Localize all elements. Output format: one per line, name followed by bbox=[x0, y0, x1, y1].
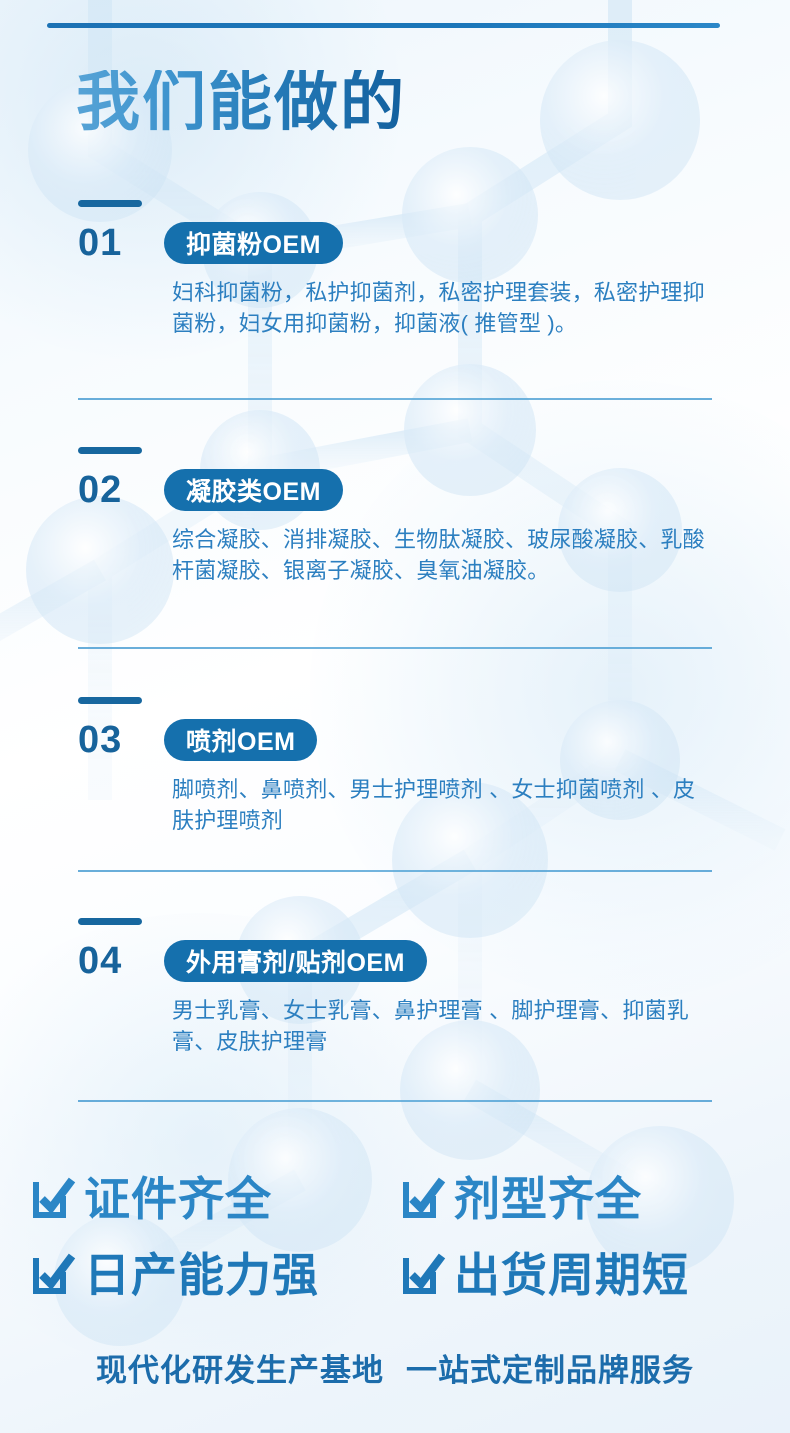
section-divider bbox=[78, 398, 712, 400]
feature-highlight-grid: 证件齐全 剂型齐全 日产能力强 出货周期短 bbox=[0, 1163, 790, 1311]
checkbox-checked-icon bbox=[30, 1253, 76, 1297]
feature-item-certificates: 证件齐全 bbox=[30, 1163, 390, 1235]
section-header: 03 喷剂OEM bbox=[78, 717, 712, 763]
capability-section-02: 02 凝胶类OEM 综合凝胶、消排凝胶、生物肽凝胶、玻尿酸凝胶、乳酸杆菌凝胶、银… bbox=[78, 447, 712, 586]
capability-section-03: 03 喷剂OEM 脚喷剂、鼻喷剂、男士护理喷剂 、女士抑菌喷剂 、皮肤护理喷剂 bbox=[78, 697, 712, 836]
section-pill-label[interactable]: 外用膏剂/贴剂OEM bbox=[164, 940, 427, 982]
header-rule bbox=[47, 23, 720, 28]
feature-label: 证件齐全 bbox=[84, 1176, 272, 1222]
section-dash-icon bbox=[78, 918, 142, 925]
section-header: 01 抑菌粉OEM bbox=[78, 220, 712, 266]
section-dash-icon bbox=[78, 200, 142, 207]
section-number: 02 bbox=[78, 471, 144, 509]
checkbox-checked-icon bbox=[400, 1253, 446, 1297]
tagline-left: 现代化研发生产基地 bbox=[96, 1353, 384, 1388]
section-number: 04 bbox=[78, 942, 144, 980]
section-number: 01 bbox=[78, 224, 144, 262]
tagline-right: 一站式定制品牌服务 bbox=[406, 1353, 694, 1388]
feature-label: 日产能力强 bbox=[84, 1252, 319, 1298]
section-description: 妇科抑菌粉，私护抑菌剂，私密护理套装，私密护理抑菌粉，妇女用抑菌粉，抑菌液( 推… bbox=[172, 277, 707, 339]
checkbox-checked-icon bbox=[30, 1177, 76, 1221]
section-pill-label[interactable]: 凝胶类OEM bbox=[164, 469, 343, 511]
promo-page: 我们能做的 01 抑菌粉OEM 妇科抑菌粉，私护抑菌剂，私密护理套装，私密护理抑… bbox=[0, 0, 790, 1433]
section-header: 02 凝胶类OEM bbox=[78, 467, 712, 513]
section-description: 男士乳膏、女士乳膏、鼻护理膏 、脚护理膏、抑菌乳膏、皮肤护理膏 bbox=[172, 995, 707, 1057]
feature-item-daily-capacity: 日产能力强 bbox=[30, 1239, 390, 1311]
footer-tagline: 现代化研发生产基地一站式定制品牌服务 bbox=[0, 1345, 790, 1390]
section-pill-label[interactable]: 抑菌粉OEM bbox=[164, 222, 343, 264]
section-dash-icon bbox=[78, 697, 142, 704]
feature-item-lead-time: 出货周期短 bbox=[400, 1239, 760, 1311]
section-divider bbox=[78, 1100, 712, 1102]
section-pill-label[interactable]: 喷剂OEM bbox=[164, 719, 317, 761]
section-number: 03 bbox=[78, 721, 144, 759]
section-description: 综合凝胶、消排凝胶、生物肽凝胶、玻尿酸凝胶、乳酸杆菌凝胶、银离子凝胶、臭氧油凝胶… bbox=[172, 524, 707, 586]
section-dash-icon bbox=[78, 447, 142, 454]
page-title: 我们能做的 bbox=[76, 70, 406, 134]
feature-label: 剂型齐全 bbox=[454, 1176, 642, 1222]
feature-item-dosage-forms: 剂型齐全 bbox=[400, 1163, 760, 1235]
section-description: 脚喷剂、鼻喷剂、男士护理喷剂 、女士抑菌喷剂 、皮肤护理喷剂 bbox=[172, 774, 707, 836]
capability-section-01: 01 抑菌粉OEM 妇科抑菌粉，私护抑菌剂，私密护理套装，私密护理抑菌粉，妇女用… bbox=[78, 200, 712, 339]
capability-section-04: 04 外用膏剂/贴剂OEM 男士乳膏、女士乳膏、鼻护理膏 、脚护理膏、抑菌乳膏、… bbox=[78, 918, 712, 1057]
checkbox-checked-icon bbox=[400, 1177, 446, 1221]
feature-label: 出货周期短 bbox=[454, 1252, 689, 1298]
section-divider bbox=[78, 870, 712, 872]
section-divider bbox=[78, 647, 712, 649]
section-header: 04 外用膏剂/贴剂OEM bbox=[78, 938, 712, 984]
